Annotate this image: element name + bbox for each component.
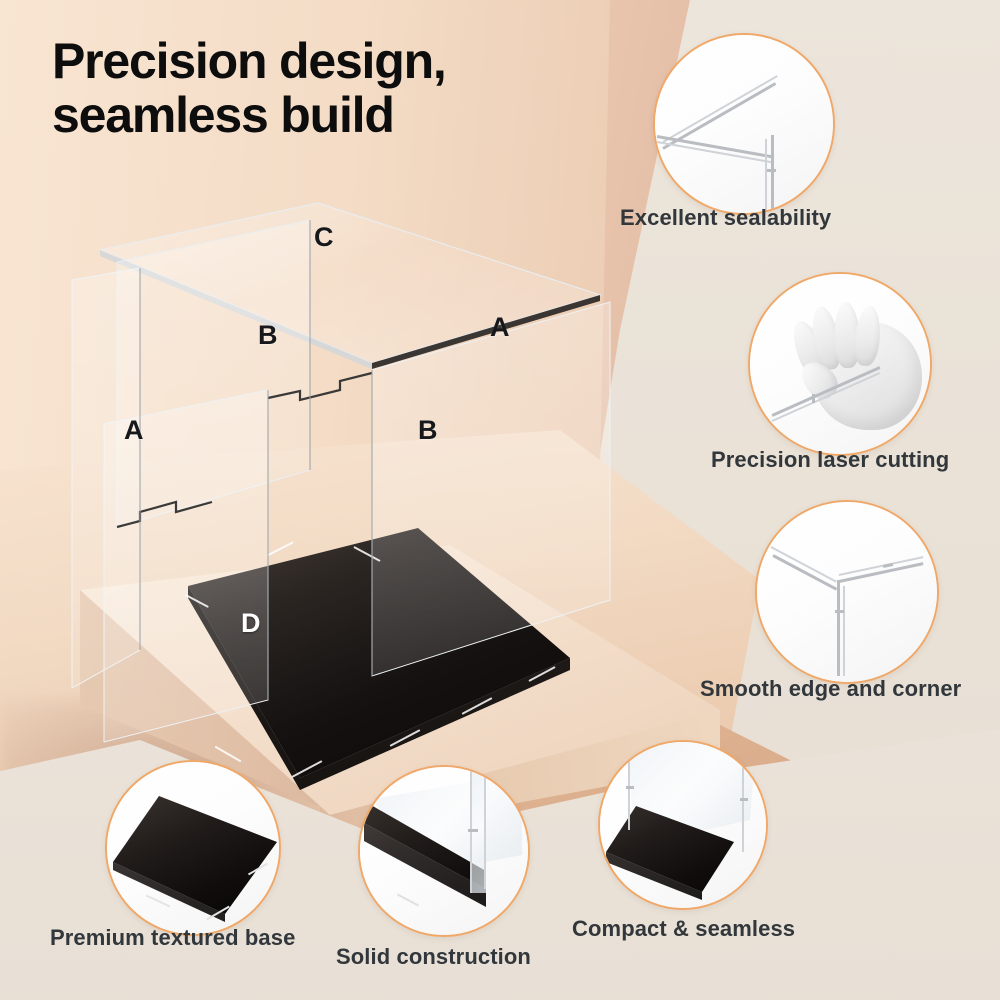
panel-label-b-front: B [418,415,438,446]
panel-label-a-right: A [490,312,510,343]
callout-caption-laser-cutting: Precision laser cutting [711,447,949,473]
callout-bubble-laser-cutting[interactable] [748,272,932,456]
callout-bubble-smooth-edge[interactable] [755,500,939,684]
callout-bubble-compact[interactable] [598,740,768,910]
callout-bubble-sealability[interactable] [653,33,835,215]
detail-base-wall-joint [360,767,528,935]
callout-caption-sealability: Excellent sealability [620,205,831,231]
callout-caption-textured-base: Premium textured base [50,925,295,951]
callout-caption-compact: Compact & seamless [572,916,795,942]
callout-caption-solid-build: Solid construction [336,944,531,970]
acrylic-panels-svg [0,0,660,800]
panel-label-b-back: B [258,320,278,351]
panel-side-a-left [72,268,140,688]
panel-label-d-base: D [241,608,261,639]
detail-assembled-corner [757,502,937,682]
callout-bubble-textured-base[interactable] [105,760,281,936]
product-feature-graphic: Precision design, seamless build [0,0,1000,1000]
panel-label-a-left: A [124,415,144,446]
detail-corner-joint-seal [655,35,833,213]
detail-black-base-plate [107,762,279,934]
callout-bubble-solid-build[interactable] [358,765,530,937]
detail-assembled-case [600,742,766,908]
exploded-display-case: C B A A B D [0,0,660,800]
panel-label-c: C [314,222,334,253]
callout-caption-smooth-edge: Smooth edge and corner [700,676,961,702]
detail-gloved-hand-panel [750,274,930,454]
